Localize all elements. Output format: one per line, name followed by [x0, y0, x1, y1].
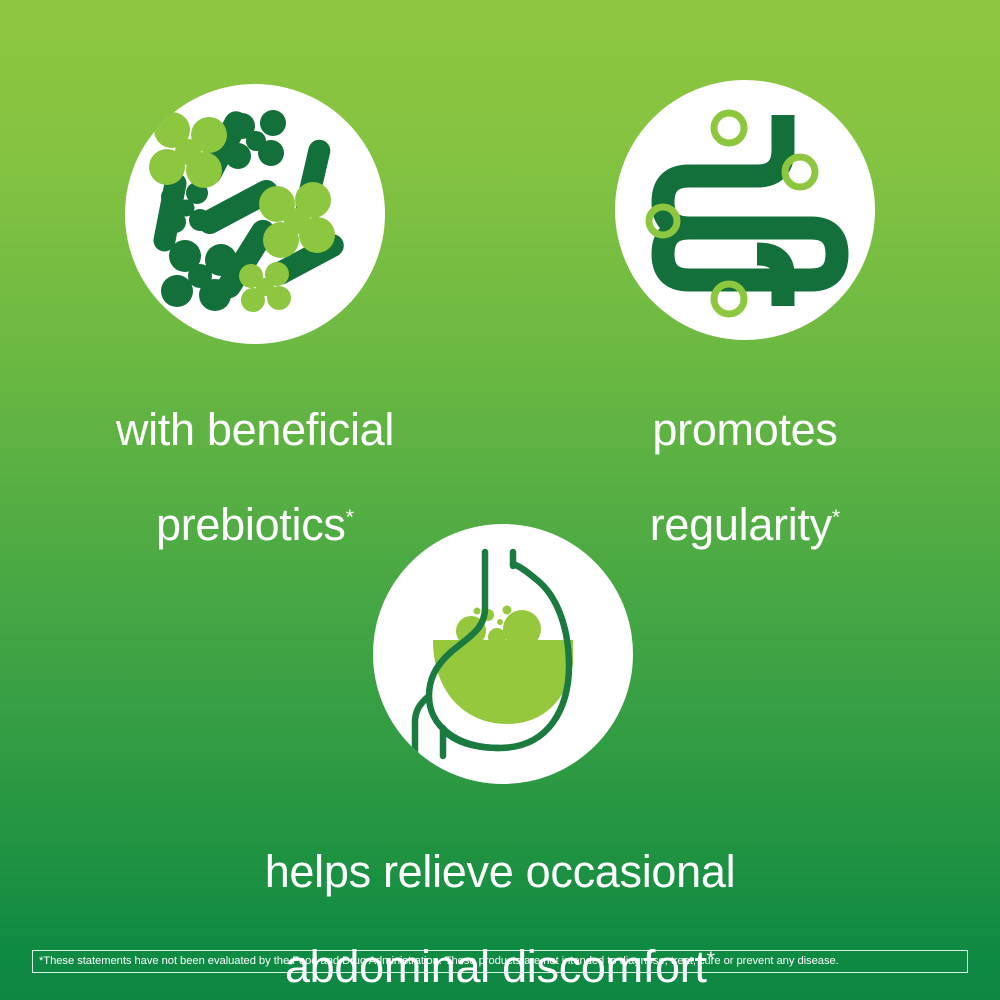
probiotic-bacteria-icon — [125, 84, 385, 344]
fda-disclaimer: *These statements have not been evaluate… — [32, 950, 968, 973]
benefit-label-line2: prebiotics — [156, 499, 346, 550]
footnote-marker: * — [832, 504, 840, 529]
benefit-label-regularity: promotes regularity* — [545, 358, 945, 549]
benefit-label-line1: promotes — [652, 404, 837, 455]
benefit-label-line2: regularity — [650, 499, 832, 550]
benefit-label-prebiotics: with beneficial prebiotics* — [35, 358, 475, 549]
footnote-marker: * — [346, 504, 354, 529]
stomach-icon — [373, 524, 633, 784]
benefit-label-line1: helps relieve occasional — [265, 846, 736, 897]
intestine-icon — [615, 80, 875, 340]
benefits-panel: with beneficial prebiotics* pro — [0, 0, 1000, 1000]
benefit-label-line1: with beneficial — [116, 404, 394, 455]
